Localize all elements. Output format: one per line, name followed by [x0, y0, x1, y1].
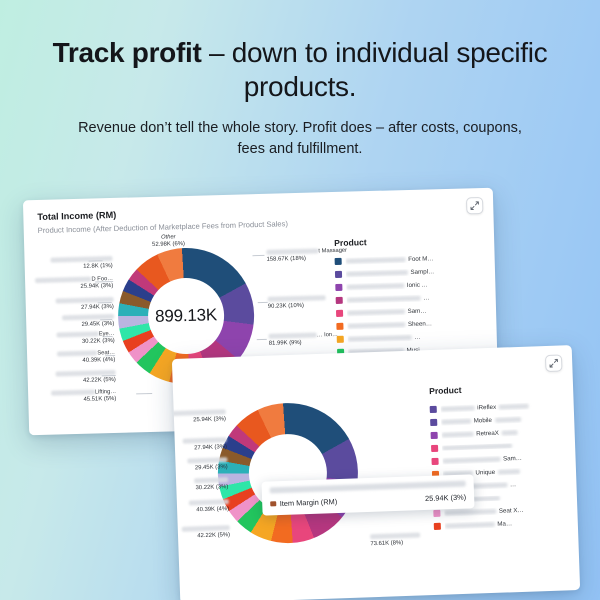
donut-segment-value: 81.99K (9%) [269, 339, 338, 347]
donut-segment-value: 45.51K (5%) [51, 396, 116, 404]
donut-segment-value: 25.94K (3%) [36, 283, 114, 291]
donut-segment-value: 73.61K (8%) [370, 539, 420, 547]
legend-swatch-icon [335, 271, 342, 278]
donut-segment-label: … Ion…81.99K (9%) [269, 332, 339, 347]
card-header: Total Income (RM) Product Income (After … [23, 188, 494, 236]
donut-segment-label: 29.45K (3%) [62, 314, 114, 328]
product-legend[interactable]: Product iReflexMobileRetreaXSam…Unique…S… [429, 381, 572, 533]
donut-chart-item-margin[interactable] [215, 401, 360, 546]
donut-segment-value: 30.22K (3%) [57, 338, 115, 346]
legend-item-label: Sam… [346, 306, 486, 317]
donut-segment-value: 42.22K (5%) [56, 377, 116, 385]
donut-segment-label: Eye…30.22K (3%) [57, 331, 115, 346]
legend-item-label: … [347, 332, 487, 343]
tooltip-title-blurred [270, 481, 466, 494]
legend-swatch-icon [336, 297, 343, 304]
leader-line [258, 302, 268, 303]
legend-swatch-icon [433, 510, 440, 517]
donut-segment-label: 25.94K (3%) [172, 409, 226, 424]
tooltip-value: 25.94K (3%) [425, 493, 466, 503]
legend-swatch-icon [430, 419, 437, 426]
donut-segment-label: 27.94K (3%) [56, 297, 114, 312]
tooltip-series: Item Margin (RM) [270, 497, 337, 508]
donut-segment-label: 12.8K (1%) [50, 256, 112, 271]
legend-swatch-icon [431, 445, 438, 452]
page-subtitle: Revenue don’t tell the whole story. Prof… [0, 118, 600, 159]
legend-item-label: Ionic … [346, 280, 486, 291]
leader-line [136, 393, 152, 394]
donut-segment-label: 40.39K (4%) [189, 499, 229, 513]
legend-swatch-icon [335, 284, 342, 291]
donut-segment-label: Seat…40.39K (4%) [57, 350, 115, 365]
legend-item-label: Sampl… [345, 267, 485, 278]
donut-segment-value: 12.8K (1%) [51, 263, 113, 271]
legend-swatch-icon [337, 336, 344, 343]
donut-segment-label: 27.94K (3%) [183, 437, 227, 452]
donut-segment-label: D Foo…25.94K (3%) [35, 276, 113, 291]
legend-title: Product [429, 381, 567, 396]
legend-item-label: Sheen… [347, 319, 487, 330]
donut-segment-label-other: Other52.98K (6%) [152, 234, 185, 248]
donut-ring[interactable] [215, 401, 360, 546]
legend-item-label: Foot M… [345, 254, 485, 265]
donut-segment-value: 29.45K (3%) [62, 321, 114, 328]
item-margin-card[interactable]: 25.94K (3%)27.94K (3%)29.45K (3%)30.22K … [172, 345, 580, 600]
legend-title: Product [334, 234, 484, 248]
leader-line [257, 339, 267, 340]
donut-segment-value: 27.94K (3%) [56, 304, 114, 312]
legend-item-label [442, 441, 570, 451]
tooltip-swatch-icon [270, 501, 276, 507]
legend-item-label: … [346, 293, 486, 304]
donut-segment-label: 90.23K (10%) [268, 295, 326, 310]
donut-segment-label: 30.22K (3%) [194, 477, 228, 491]
donut-segment-label: 42.22K (5%) [182, 525, 230, 540]
page-title-rest: – down to individual specific products. [202, 37, 548, 102]
legend-swatch-icon [335, 258, 342, 265]
page-title: Track profit – down to individual specif… [0, 36, 600, 104]
donut-segment-label: Lifting…45.51K (5%) [51, 389, 117, 404]
legend-swatch-icon [431, 432, 438, 439]
tooltip-series-label: Item Margin (RM) [280, 497, 338, 508]
donut-segment-label: 42.22K (5%) [56, 370, 116, 385]
donut-segment-value: 40.39K (4%) [57, 357, 115, 365]
legend-swatch-icon [434, 523, 441, 530]
expand-arrows-icon[interactable] [466, 197, 483, 214]
hero-section: Track profit – down to individual specif… [0, 36, 600, 159]
legend-swatch-icon [336, 310, 343, 317]
legend-swatch-icon [336, 323, 343, 330]
donut-segment-value: 90.23K (10%) [268, 302, 326, 310]
legend-item-label: Ma… [444, 518, 572, 529]
legend-swatch-icon [430, 406, 437, 413]
leader-line [252, 255, 264, 256]
expand-arrows-icon[interactable] [545, 354, 563, 372]
legend-swatch-icon [431, 458, 438, 465]
donut-segment-label: 73.61K (8%) [370, 532, 420, 547]
donut-segment-value: 30.22K (3%) [194, 484, 228, 491]
donut-segment-label: 29.45K (3%) [187, 457, 227, 471]
page-title-emphasis: Track profit [53, 37, 202, 68]
